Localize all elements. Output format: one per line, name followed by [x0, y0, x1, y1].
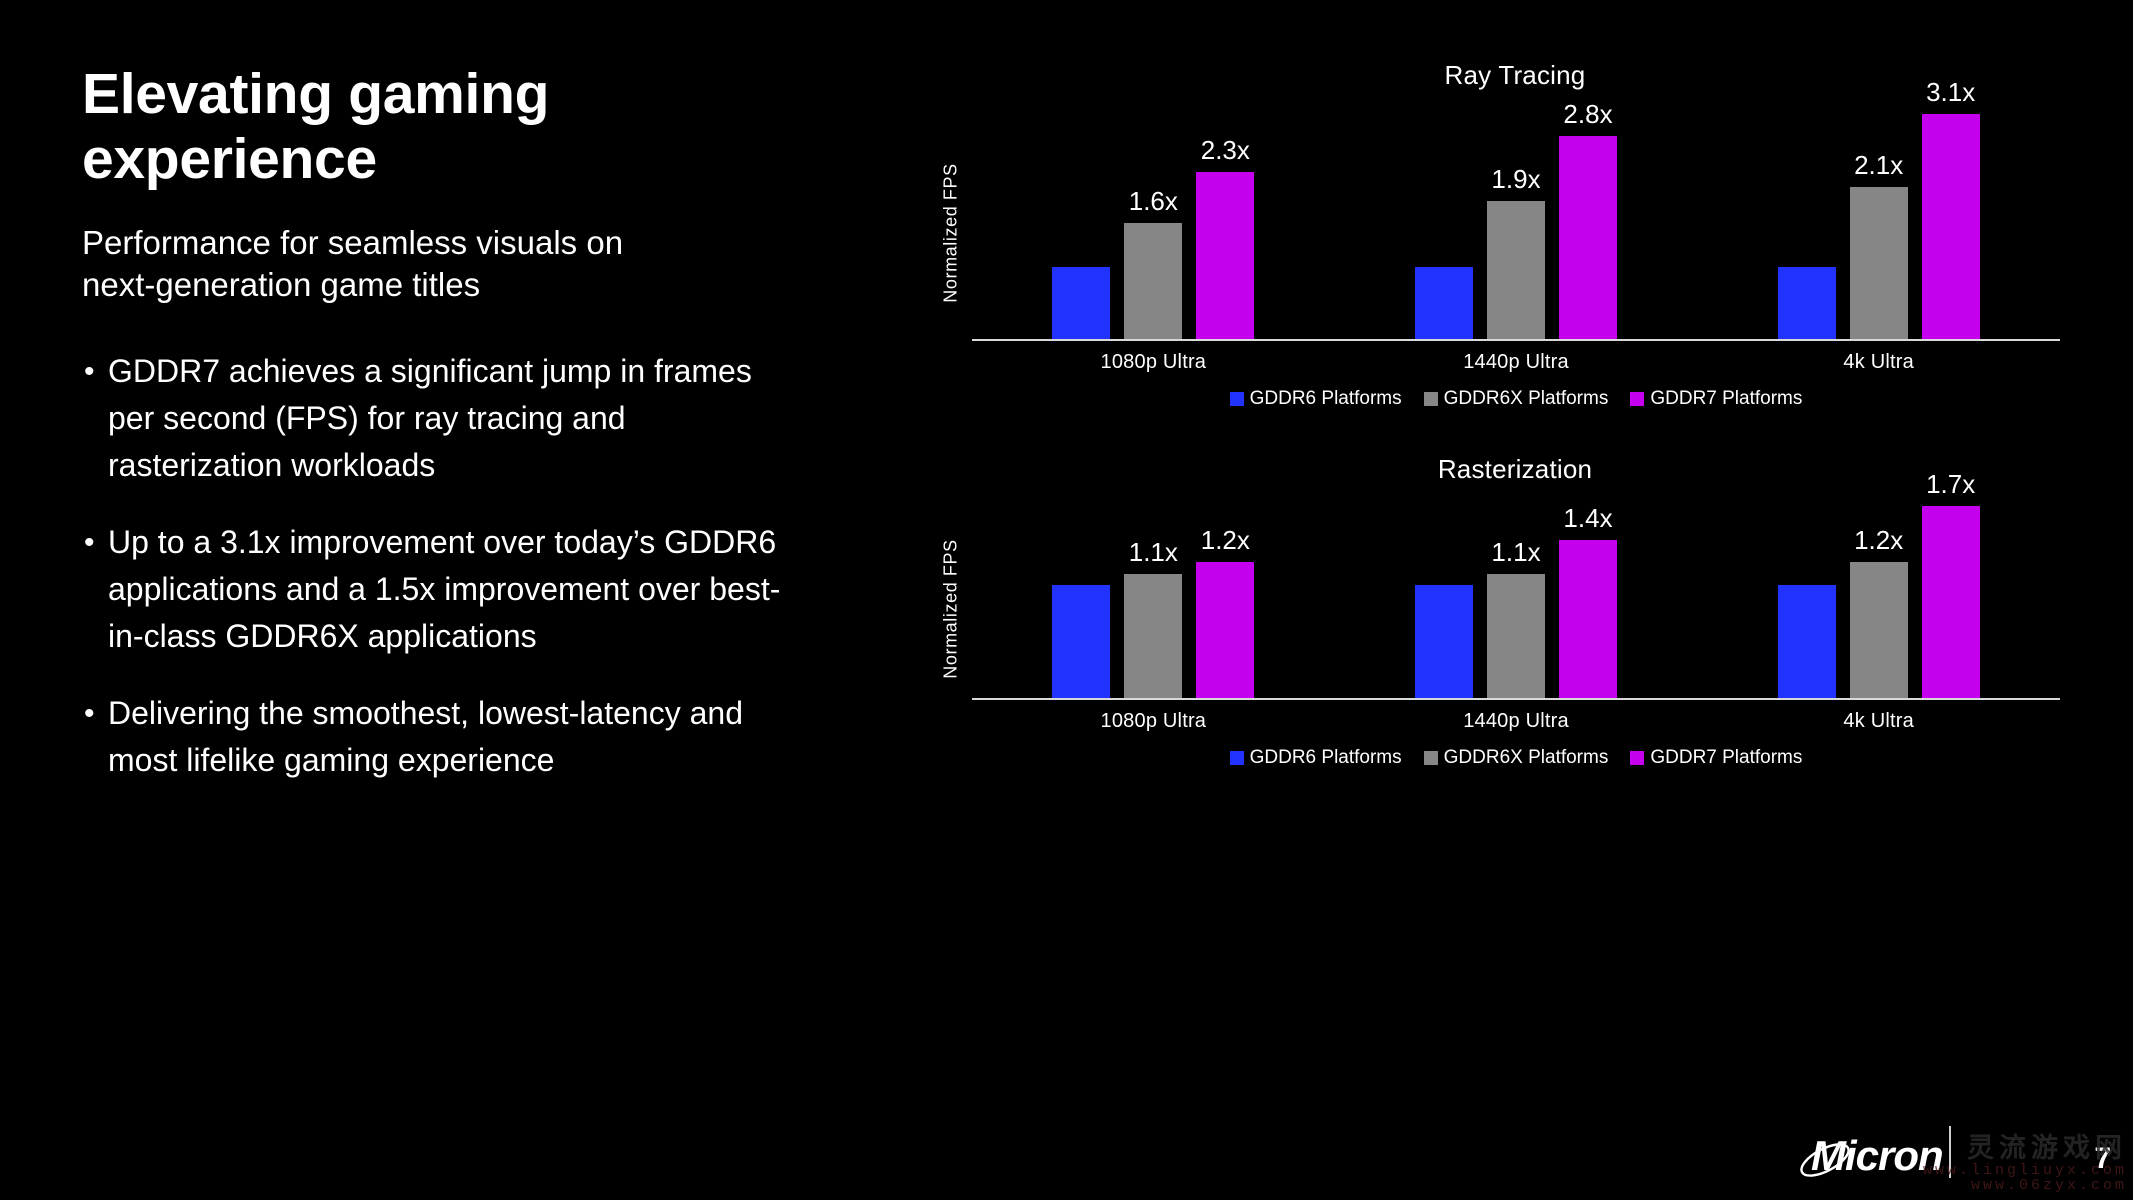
legend-swatch-icon	[1230, 392, 1244, 406]
legend-item[interactable]: GDDR6X Platforms	[1424, 388, 1609, 410]
bar-value-label: 2.3x	[1180, 135, 1270, 166]
page-title: Elevating gaming experience	[82, 62, 782, 192]
bar-column: 1.1x	[1124, 485, 1182, 698]
bar-value-label: 1.7x	[1906, 469, 1996, 500]
chart-rasterization: Rasterization Normalized FPS 1.1x1.2x1.1…	[930, 454, 2060, 769]
bullet-list: • GDDR7 achieves a significant jump in f…	[82, 348, 782, 784]
bullet-text: Up to a 3.1x improvement over today’s GD…	[108, 519, 782, 660]
chart-title: Ray Tracing	[930, 60, 2060, 91]
bar-column	[1415, 91, 1473, 339]
x-axis-tick-label: 4k Ultra	[1697, 351, 2060, 374]
bar	[1415, 585, 1473, 698]
bar-group: 2.1x3.1x	[1697, 91, 2060, 339]
bar-value-label: 2.1x	[1834, 150, 1924, 181]
plot-bars: 1.6x2.3x1.9x2.8x2.1x3.1x	[972, 91, 2060, 341]
charts-column: Ray Tracing Normalized FPS 1.6x2.3x1.9x2…	[930, 60, 2060, 769]
bar-value-label: 1.2x	[1834, 525, 1924, 556]
bullet-marker-icon: •	[82, 348, 108, 395]
legend-item[interactable]: GDDR6X Platforms	[1424, 747, 1609, 769]
legend-item[interactable]: GDDR7 Platforms	[1630, 388, 1802, 410]
legend-item[interactable]: GDDR6 Platforms	[1230, 388, 1402, 410]
bar-column: 1.6x	[1124, 91, 1182, 339]
bar	[1922, 114, 1980, 339]
bar-column: 3.1x	[1922, 91, 1980, 339]
bar-column: 1.2x	[1850, 485, 1908, 698]
slide-root: Elevating gaming experience Performance …	[0, 0, 2133, 1200]
bar	[1196, 562, 1254, 698]
bar-column	[1415, 485, 1473, 698]
bar-group: 1.2x1.7x	[1697, 485, 2060, 698]
bar	[1487, 201, 1545, 339]
chart-ray-tracing: Ray Tracing Normalized FPS 1.6x2.3x1.9x2…	[930, 60, 2060, 410]
slide-subtitle: Performance for seamless visuals on next…	[82, 222, 782, 306]
bar	[1196, 172, 1254, 339]
bar-group: 1.9x2.8x	[1335, 91, 1698, 339]
chart-title: Rasterization	[930, 454, 2060, 485]
x-axis-tick-label: 1080p Ultra	[972, 351, 1335, 374]
watermark-url-secondary: www.06zyx.com	[1827, 1178, 2127, 1194]
legend-swatch-icon	[1424, 392, 1438, 406]
slide-footer: Micron 7 灵流游戏网 www.lingliuyx.com www.06z…	[1773, 1090, 2133, 1200]
legend-label: GDDR7 Platforms	[1650, 747, 1802, 769]
legend-label: GDDR6 Platforms	[1250, 747, 1402, 769]
legend-item[interactable]: GDDR7 Platforms	[1630, 747, 1802, 769]
chart-legend: GDDR6 PlatformsGDDR6X PlatformsGDDR7 Pla…	[930, 747, 2060, 769]
plot-bars: 1.1x1.2x1.1x1.4x1.2x1.7x	[972, 485, 2060, 700]
bar	[1124, 574, 1182, 698]
bar	[1487, 574, 1545, 698]
legend-swatch-icon	[1630, 392, 1644, 406]
bar	[1052, 585, 1110, 698]
chart-body: Normalized FPS 1.6x2.3x1.9x2.8x2.1x3.1x …	[930, 91, 2060, 374]
legend-label: GDDR7 Platforms	[1650, 388, 1802, 410]
bar	[1124, 223, 1182, 339]
bar-value-label: 3.1x	[1906, 77, 1996, 108]
bullet-text: Delivering the smoothest, lowest-latency…	[108, 690, 782, 784]
legend-swatch-icon	[1630, 751, 1644, 765]
bar	[1415, 267, 1473, 339]
bar-column: 1.1x	[1487, 485, 1545, 698]
bar	[1559, 540, 1617, 698]
x-axis-tick-label: 1440p Ultra	[1335, 710, 1698, 733]
watermark-site-name: 灵流游戏网	[1827, 1134, 2127, 1162]
bar-column: 1.9x	[1487, 91, 1545, 339]
legend-item[interactable]: GDDR6 Platforms	[1230, 747, 1402, 769]
legend-label: GDDR6 Platforms	[1250, 388, 1402, 410]
x-axis-tick-labels: 1080p Ultra1440p Ultra4k Ultra	[972, 351, 2060, 374]
plot-area: 1.1x1.2x1.1x1.4x1.2x1.7x 1080p Ultra1440…	[972, 485, 2060, 733]
y-axis-label: Normalized FPS	[930, 91, 972, 374]
bullet-marker-icon: •	[82, 519, 108, 566]
bar-column: 2.1x	[1850, 91, 1908, 339]
watermark: 灵流游戏网 www.lingliuyx.com www.06zyx.com	[1827, 1134, 2127, 1194]
bar-value-label: 1.4x	[1543, 503, 1633, 534]
list-item: • Up to a 3.1x improvement over today’s …	[82, 519, 782, 660]
bar-value-label: 1.6x	[1108, 186, 1198, 217]
y-axis-label-text: Normalized FPS	[941, 163, 962, 302]
list-item: • GDDR7 achieves a significant jump in f…	[82, 348, 782, 489]
left-content-column: Elevating gaming experience Performance …	[82, 62, 782, 814]
bar-value-label: 2.8x	[1543, 99, 1633, 130]
x-axis-tick-label: 1440p Ultra	[1335, 351, 1698, 374]
bar	[1778, 267, 1836, 339]
bar-value-label: 1.9x	[1471, 164, 1561, 195]
bar	[1778, 585, 1836, 698]
bar-column: 1.7x	[1922, 485, 1980, 698]
plot-area: 1.6x2.3x1.9x2.8x2.1x3.1x 1080p Ultra1440…	[972, 91, 2060, 374]
legend-label: GDDR6X Platforms	[1444, 747, 1609, 769]
bar	[1052, 267, 1110, 339]
bar-column: 2.3x	[1196, 91, 1254, 339]
bar-group: 1.6x2.3x	[972, 91, 1335, 339]
bar-column	[1778, 91, 1836, 339]
y-axis-label-text: Normalized FPS	[941, 539, 962, 678]
bar-column	[1778, 485, 1836, 698]
bar-column: 2.8x	[1559, 91, 1617, 339]
bullet-marker-icon: •	[82, 690, 108, 737]
bullet-text: GDDR7 achieves a significant jump in fra…	[108, 348, 782, 489]
list-item: • Delivering the smoothest, lowest-laten…	[82, 690, 782, 784]
x-axis-tick-label: 4k Ultra	[1697, 710, 2060, 733]
bar	[1850, 187, 1908, 339]
bar-value-label: 1.1x	[1471, 537, 1561, 568]
bar	[1922, 506, 1980, 698]
bar-column	[1052, 485, 1110, 698]
bar-value-label: 1.2x	[1180, 525, 1270, 556]
legend-swatch-icon	[1424, 751, 1438, 765]
y-axis-label: Normalized FPS	[930, 485, 972, 733]
legend-label: GDDR6X Platforms	[1444, 388, 1609, 410]
bar	[1559, 136, 1617, 339]
legend-swatch-icon	[1230, 751, 1244, 765]
bar-column: 1.4x	[1559, 485, 1617, 698]
chart-body: Normalized FPS 1.1x1.2x1.1x1.4x1.2x1.7x …	[930, 485, 2060, 733]
x-axis-tick-label: 1080p Ultra	[972, 710, 1335, 733]
bar-column: 1.2x	[1196, 485, 1254, 698]
watermark-url-primary: www.lingliuyx.com	[1827, 1163, 2127, 1179]
chart-legend: GDDR6 PlatformsGDDR6X PlatformsGDDR7 Pla…	[930, 388, 2060, 410]
bar-group: 1.1x1.2x	[972, 485, 1335, 698]
bar	[1850, 562, 1908, 698]
x-axis-tick-labels: 1080p Ultra1440p Ultra4k Ultra	[972, 710, 2060, 733]
bar-column	[1052, 91, 1110, 339]
bar-group: 1.1x1.4x	[1335, 485, 1698, 698]
